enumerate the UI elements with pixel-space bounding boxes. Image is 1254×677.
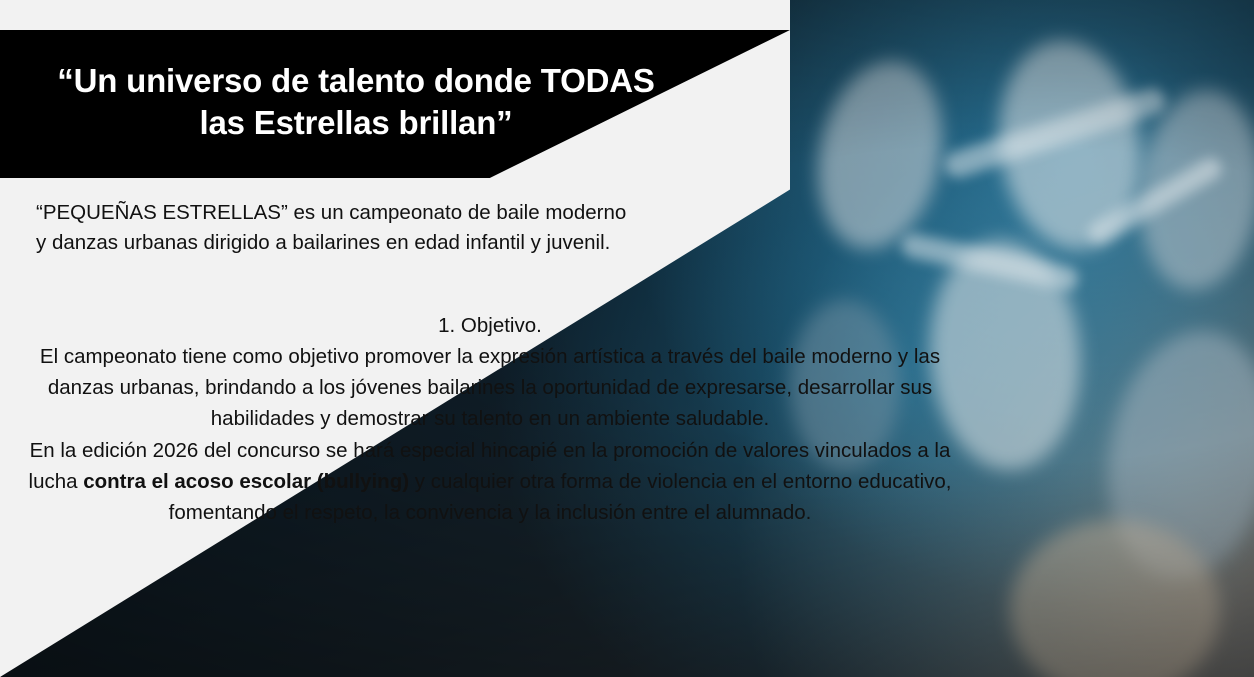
paragraph-2-bold: contra el acoso escolar (bullying) — [83, 470, 409, 493]
intro-line-1: “PEQUEÑAS ESTRELLAS” es un campeonato de… — [36, 201, 626, 224]
photo-figure-shape — [802, 50, 959, 261]
objective-paragraph-2: En la edición 2026 del concurso se hará … — [10, 435, 970, 528]
objective-paragraph-1: El campeonato tiene como objetivo promov… — [10, 341, 970, 434]
slide-canvas: “Un universo de talento donde TODAS las … — [0, 0, 1254, 677]
intro-line-2: y danzas urbanas dirigido a bailarines e… — [36, 231, 610, 254]
slide-title-line-2: las Estrellas brillan” — [200, 104, 513, 141]
objective-section: 1. Objetivo. El campeonato tiene como ob… — [10, 310, 970, 528]
intro-paragraph: “PEQUEÑAS ESTRELLAS” es un campeonato de… — [36, 198, 806, 257]
section-heading: 1. Objetivo. — [10, 310, 970, 341]
slide-title-line-1: “Un universo de talento donde TODAS — [57, 62, 654, 99]
slide-title: “Un universo de talento donde TODAS las … — [0, 60, 712, 144]
